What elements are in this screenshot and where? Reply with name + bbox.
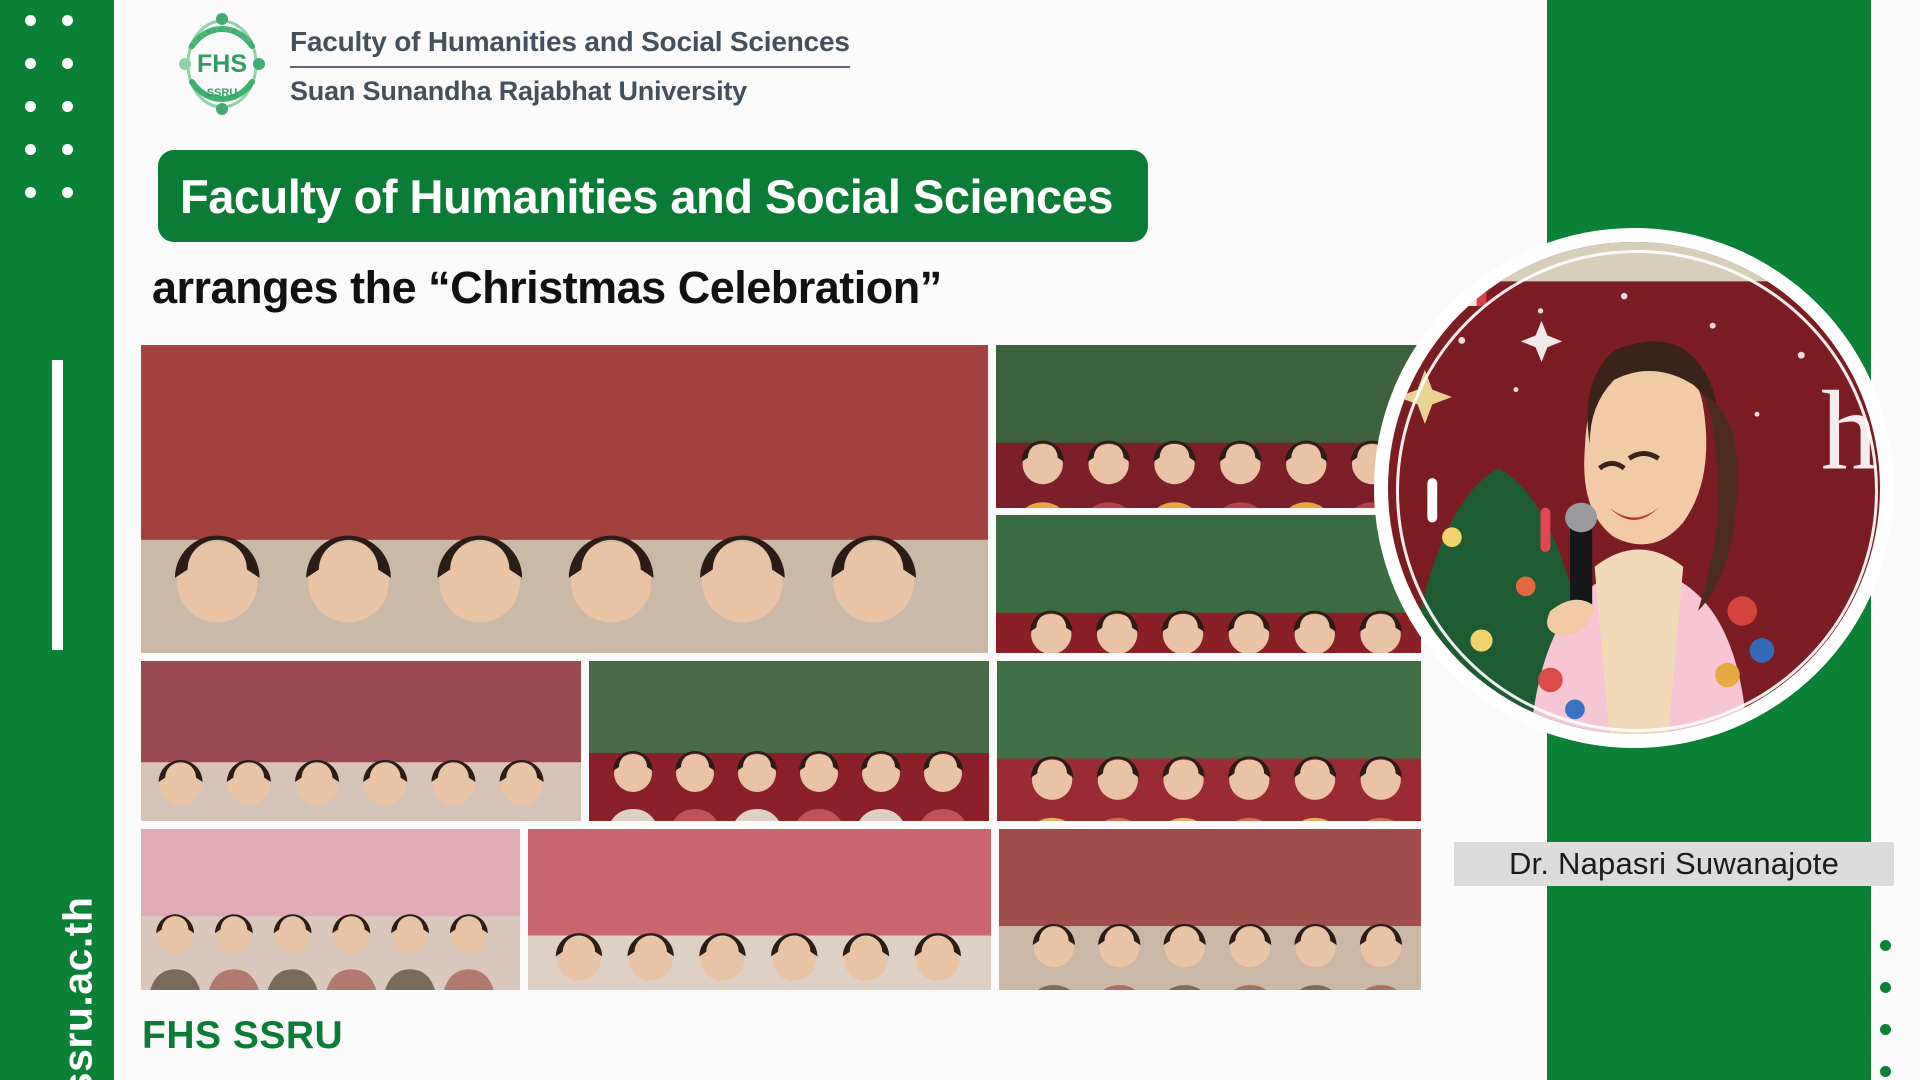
photo-collage: [141, 345, 1421, 990]
org-divider: [290, 66, 850, 68]
right-dot-3: [1880, 1066, 1891, 1077]
org-faculty-name: Faculty of Humanities and Social Science…: [290, 24, 850, 59]
poster-canvas: www.hs.ssru.ac.th FHS SSRU F A C U: [0, 0, 1920, 1080]
dot-grid-decoration: [0, 0, 114, 230]
speaker-name-text: Dr. Napasri Suwanajote: [1509, 846, 1839, 882]
right-dot-0: [1880, 940, 1891, 951]
photo-band-performance: [997, 661, 1421, 821]
photo-audience-row-3: [999, 829, 1421, 990]
dot-0-0: [25, 15, 36, 26]
photo-stage-band-wide: [996, 345, 1421, 508]
photo-audience-row-1: [141, 829, 520, 990]
dot-4-1: [62, 187, 73, 198]
speaker-name-plate: Dr. Napasri Suwanajote: [1454, 842, 1894, 886]
fhs-logo-icon: FHS SSRU F A C U L T Y O F H U M: [170, 12, 274, 116]
svg-text:FHS: FHS: [197, 50, 247, 78]
dot-3-0: [25, 144, 36, 155]
dot-4-0: [25, 187, 36, 198]
org-name-block: Faculty of Humanities and Social Science…: [290, 20, 850, 109]
brand-header: FHS SSRU F A C U L T Y O F H U M: [170, 8, 850, 120]
right-dot-1: [1880, 982, 1891, 993]
title-banner-text: Faculty of Humanities and Social Science…: [158, 169, 1113, 224]
dot-2-1: [62, 101, 73, 112]
dot-0-1: [62, 15, 73, 26]
right-dot-column-decoration: [1875, 930, 1915, 1080]
left-green-sidebar: www.hs.ssru.ac.th: [0, 0, 114, 1080]
website-url-vertical[interactable]: www.hs.ssru.ac.th: [55, 564, 102, 1080]
dot-1-0: [25, 58, 36, 69]
title-banner: Faculty of Humanities and Social Science…: [158, 150, 1148, 242]
dot-2-0: [25, 101, 36, 112]
photo-singer-white-shirt: [589, 661, 989, 821]
right-dot-2: [1880, 1024, 1891, 1035]
speaker-portrait-photo: h: [1388, 242, 1880, 734]
dot-3-1: [62, 144, 73, 155]
photo-group-photo-left: [141, 661, 581, 821]
org-university-name: Suan Sunandha Rajabhat University: [290, 75, 850, 109]
dot-1-1: [62, 58, 73, 69]
photo-audience-row-2: [528, 829, 991, 990]
footer-brand-tag: FHS SSRU: [142, 1014, 343, 1058]
photo-host-green-shirt: [996, 515, 1421, 653]
svg-text:SSRU: SSRU: [207, 87, 238, 99]
sidebar-vertical-block: www.hs.ssru.ac.th: [0, 330, 114, 1070]
photo-crowd-santa-hat: [141, 345, 988, 653]
subtitle-text: arranges the “Christmas Celebration”: [152, 262, 942, 314]
